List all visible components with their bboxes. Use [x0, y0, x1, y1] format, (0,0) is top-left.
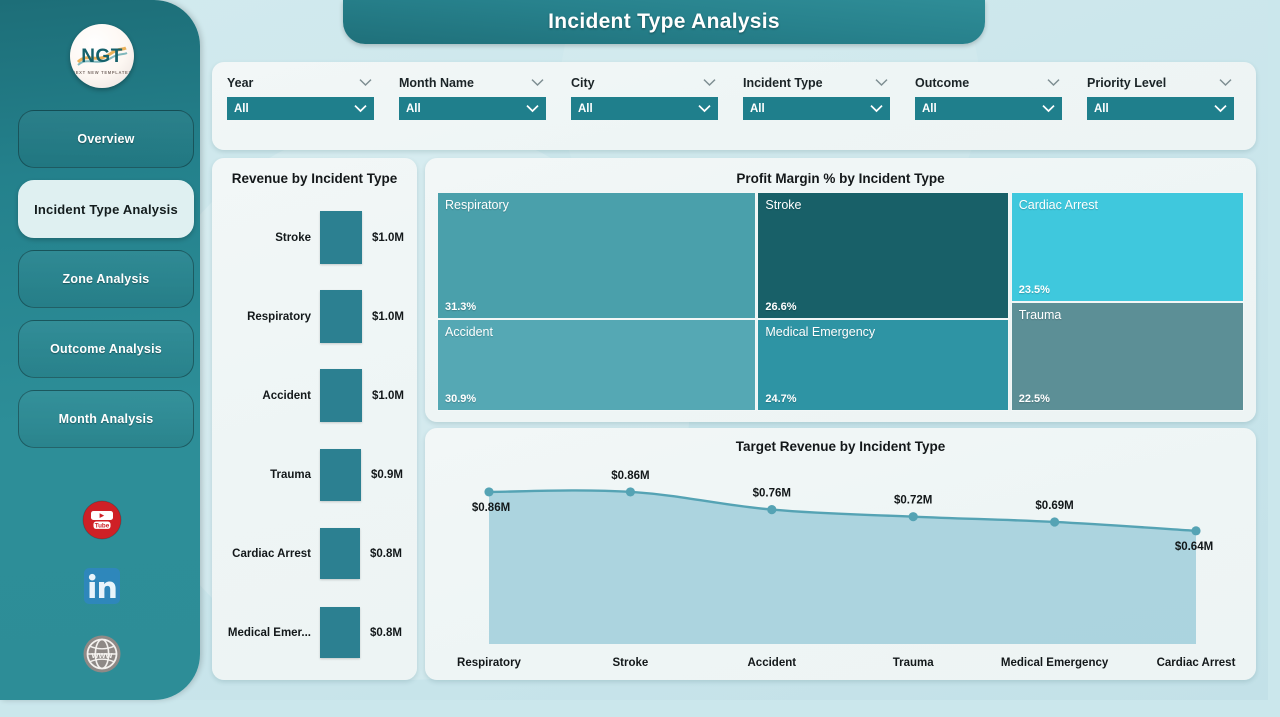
treemap-cell-cardiac-arrest[interactable]: Cardiac Arrest23.5%	[1011, 192, 1244, 302]
treemap-cell-value: 24.7%	[765, 393, 796, 405]
slicer-label: Outcome	[915, 76, 1062, 90]
sidebar-item-zone-analysis[interactable]: Zone Analysis	[18, 250, 194, 308]
slicer-year: YearAll	[227, 76, 374, 120]
treemap-cell-respiratory[interactable]: Respiratory31.3%	[437, 192, 756, 319]
treemap-cell-label: Cardiac Arrest	[1019, 198, 1098, 212]
bar-data-label: $1.0M	[362, 390, 404, 402]
slicer-month-name: Month NameAll	[399, 76, 546, 120]
bar-chart-row[interactable]: Stroke$1.0M	[212, 198, 417, 277]
chevron-down-icon	[870, 104, 883, 113]
x-axis-tick-label: Accident	[748, 657, 797, 669]
slicer-incident-type: Incident TypeAll	[743, 76, 890, 120]
slicer-label: Priority Level	[1087, 76, 1234, 90]
bar-category-label: Accident	[212, 390, 320, 402]
treemap-cell-label: Trauma	[1019, 308, 1062, 322]
sidebar-item-label: Overview	[77, 132, 134, 146]
target-revenue-by-incident-type-chart: Target Revenue by Incident Type $0.86M$0…	[425, 428, 1256, 680]
bar-data-label: $0.9M	[361, 469, 403, 481]
sidebar-item-label: Zone Analysis	[63, 272, 150, 286]
treemap-cell-stroke[interactable]: Stroke26.6%	[757, 192, 1009, 319]
slicer-outcome: OutcomeAll	[915, 76, 1062, 120]
svg-text:www: www	[90, 650, 113, 660]
chevron-down-icon	[1214, 104, 1227, 113]
data-point-label: $0.69M	[1035, 500, 1073, 512]
bar-category-label: Stroke	[212, 232, 320, 244]
x-axis-tick-label: Medical Emergency	[1001, 657, 1109, 669]
slicer-city: CityAll	[571, 76, 718, 120]
slicer-label: Year	[227, 76, 374, 90]
data-point-label: $0.86M	[611, 470, 649, 482]
youtube-icon[interactable]: Tube	[82, 500, 122, 540]
chevron-down-icon	[526, 104, 539, 113]
treemap-cell-label: Respiratory	[445, 198, 509, 212]
page-title: Incident Type Analysis	[548, 10, 780, 34]
data-point-marker[interactable]	[1191, 526, 1200, 535]
slicer-selected-value: All	[234, 103, 354, 115]
slicer-selected-value: All	[1094, 103, 1214, 115]
sidebar-item-label: Month Analysis	[59, 412, 154, 426]
treemap-cell-label: Stroke	[765, 198, 801, 212]
report-header: Incident Type Analysis	[343, 0, 985, 44]
treemap-cell-label: Accident	[445, 325, 493, 339]
slicer-selected-value: All	[578, 103, 698, 115]
slicer-label: City	[571, 76, 718, 90]
data-point-marker[interactable]	[909, 512, 918, 521]
chevron-down-icon	[1042, 104, 1055, 113]
treemap-cell-label: Medical Emergency	[765, 325, 875, 339]
x-axis-tick-label: Trauma	[893, 657, 935, 669]
slicer-label: Incident Type	[743, 76, 890, 90]
bar-data-label: $1.0M	[362, 311, 404, 323]
area-chart-svg: $0.86M$0.86M$0.76M$0.72M$0.69M$0.64MResp…	[425, 428, 1256, 680]
chevron-down-icon	[359, 78, 372, 87]
x-axis-tick-label: Stroke	[613, 657, 649, 669]
slicer-dropdown-year[interactable]: All	[227, 97, 374, 120]
bar-value-rect[interactable]	[320, 528, 360, 579]
slicer-label: Month Name	[399, 76, 546, 90]
bar-value-rect[interactable]	[320, 290, 362, 343]
sidebar-item-overview[interactable]: Overview	[18, 110, 194, 168]
bar-chart-row[interactable]: Respiratory$1.0M	[212, 277, 417, 356]
bar-chart-plot-area: Stroke$1.0MRespiratory$1.0MAccident$1.0M…	[212, 198, 417, 672]
sidebar: NGT NEXT NEW TEMPLATES Overview Incident…	[0, 0, 200, 700]
bar-value-rect[interactable]	[320, 211, 362, 264]
chevron-down-icon	[1219, 78, 1232, 87]
treemap-cell-value: 30.9%	[445, 393, 476, 405]
svg-text:NEXT NEW TEMPLATES: NEXT NEW TEMPLATES	[72, 70, 132, 75]
slicer-dropdown-month-name[interactable]: All	[399, 97, 546, 120]
data-point-marker[interactable]	[626, 487, 635, 496]
bar-value-rect[interactable]	[320, 607, 360, 658]
bar-category-label: Trauma	[212, 469, 320, 481]
ngt-logo-icon: NGT NEXT NEW TEMPLATES	[70, 24, 134, 88]
bar-data-label: $0.8M	[360, 627, 402, 639]
bar-chart-row[interactable]: Cardiac Arrest$0.8M	[212, 514, 417, 593]
chevron-down-icon	[875, 78, 888, 87]
sidebar-item-label: Outcome Analysis	[50, 342, 162, 356]
treemap-cell-value: 22.5%	[1019, 393, 1050, 405]
bar-chart-row[interactable]: Trauma$0.9M	[212, 435, 417, 514]
sidebar-item-outcome-analysis[interactable]: Outcome Analysis	[18, 320, 194, 378]
data-point-label: $0.76M	[753, 488, 791, 500]
bar-value-rect[interactable]	[320, 449, 361, 501]
chevron-down-icon	[1047, 78, 1060, 87]
chevron-down-icon	[703, 78, 716, 87]
bar-category-label: Medical Emer...	[212, 627, 320, 639]
sidebar-item-month-analysis[interactable]: Month Analysis	[18, 390, 194, 448]
x-axis-tick-label: Cardiac Arrest	[1157, 657, 1236, 669]
slicer-dropdown-outcome[interactable]: All	[915, 97, 1062, 120]
data-point-label: $0.72M	[894, 495, 932, 507]
chevron-down-icon	[354, 104, 367, 113]
chart-title: Profit Margin % by Incident Type	[425, 171, 1256, 186]
treemap-plot-area: Respiratory31.3%Stroke26.6%Cardiac Arres…	[437, 192, 1244, 411]
slicer-priority-level: Priority LevelAll	[1087, 76, 1234, 120]
bar-category-label: Respiratory	[212, 311, 320, 323]
treemap-cell-trauma[interactable]: Trauma22.5%	[1011, 302, 1244, 411]
slicer-dropdown-city[interactable]: All	[571, 97, 718, 120]
revenue-by-incident-type-chart: Revenue by Incident Type Stroke$1.0MResp…	[212, 158, 417, 680]
bar-chart-row[interactable]: Accident$1.0M	[212, 356, 417, 435]
linkedin-icon[interactable]	[82, 566, 122, 606]
slicer-selected-value: All	[750, 103, 870, 115]
sidebar-item-incident-type-analysis[interactable]: Incident Type Analysis	[18, 180, 194, 238]
chart-title: Revenue by Incident Type	[212, 171, 417, 186]
data-point-label: $0.86M	[472, 502, 510, 514]
report-canvas: NGT NEXT NEW TEMPLATES Overview Incident…	[0, 0, 1280, 717]
sidebar-item-label: Incident Type Analysis	[34, 202, 178, 217]
bar-data-label: $1.0M	[362, 232, 404, 244]
treemap-cell-value: 26.6%	[765, 301, 796, 313]
bar-category-label: Cardiac Arrest	[212, 548, 320, 560]
treemap-cell-accident[interactable]: Accident30.9%	[437, 319, 756, 411]
data-point-marker[interactable]	[484, 487, 493, 496]
slicer-dropdown-priority-level[interactable]: All	[1087, 97, 1234, 120]
slicer-dropdown-incident-type[interactable]: All	[743, 97, 890, 120]
data-point-label: $0.64M	[1175, 541, 1213, 553]
profit-margin-treemap-chart: Profit Margin % by Incident Type Respira…	[425, 158, 1256, 422]
svg-text:NGT: NGT	[81, 46, 123, 67]
chevron-down-icon	[698, 104, 711, 113]
website-icon[interactable]: www	[82, 634, 122, 674]
bar-chart-row[interactable]: Medical Emer...$0.8M	[212, 593, 417, 672]
treemap-cell-medical-emergency[interactable]: Medical Emergency24.7%	[757, 319, 1009, 411]
svg-text:Tube: Tube	[95, 522, 110, 529]
slicer-selected-value: All	[406, 103, 526, 115]
bar-data-label: $0.8M	[360, 548, 402, 560]
data-point-marker[interactable]	[1050, 517, 1059, 526]
bar-value-rect[interactable]	[320, 369, 362, 422]
slicer-selected-value: All	[922, 103, 1042, 115]
treemap-cell-value: 31.3%	[445, 301, 476, 313]
chevron-down-icon	[531, 78, 544, 87]
filter-bar: YearAllMonth NameAllCityAllIncident Type…	[212, 62, 1256, 150]
x-axis-tick-label: Respiratory	[457, 657, 522, 669]
data-point-marker[interactable]	[767, 505, 776, 514]
treemap-cell-value: 23.5%	[1019, 284, 1050, 296]
